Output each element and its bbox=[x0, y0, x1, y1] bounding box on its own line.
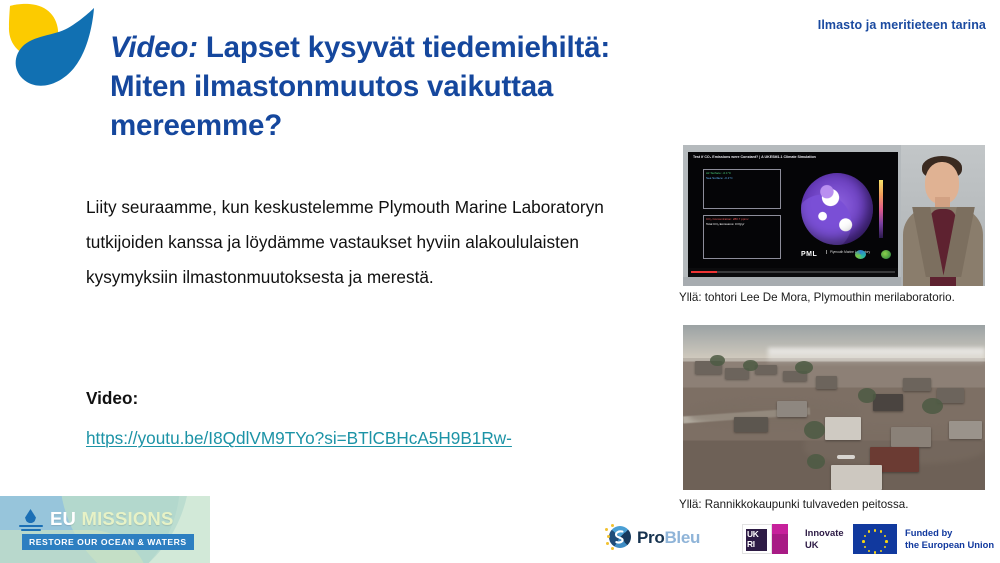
eu-missions-logo: EU MISSIONS RESTORE OUR OCEAN & WATERS bbox=[0, 496, 212, 563]
star-icon bbox=[607, 535, 610, 538]
probleu-logo: ProBleu bbox=[605, 524, 700, 551]
tree bbox=[858, 388, 876, 403]
star-icon bbox=[605, 528, 608, 531]
eu-missions-tagline: RESTORE OUR OCEAN & WATERS bbox=[22, 534, 194, 550]
tree bbox=[795, 361, 813, 374]
house bbox=[816, 376, 837, 389]
ukri-mark-label: UK RI bbox=[747, 530, 766, 550]
video-thumbnail-pml[interactable]: Test if CO₂ Emissions were Constant? | A… bbox=[683, 145, 985, 286]
eu-flag-icon bbox=[853, 524, 897, 554]
eu-funding-text: Funded by the European Union bbox=[905, 527, 994, 551]
partner-logo-row: ProBleu UK RI Innovate UK bbox=[605, 522, 995, 562]
probleu-word-bleu: Bleu bbox=[664, 528, 700, 547]
star-icon bbox=[611, 524, 614, 527]
ukri-innovate-uk-logo: UK RI Innovate UK bbox=[742, 524, 844, 554]
eu-missions-word-eu: EU bbox=[50, 508, 81, 529]
ukri-mark-line2: RI bbox=[747, 540, 766, 550]
video-label: Video: bbox=[86, 388, 138, 409]
pml-logo-text: PML bbox=[801, 251, 817, 258]
house bbox=[903, 378, 930, 391]
tree bbox=[922, 398, 943, 415]
probleu-swirl-icon bbox=[614, 530, 625, 544]
caption-top-image: Yllä: tohtori Lee De Mora, Plymouthin me… bbox=[679, 291, 955, 304]
chart-air-sea-temp bbox=[703, 169, 781, 209]
legend-co2-concentration: CO₂ Concentration: 280.7 ppmv bbox=[706, 217, 749, 221]
title-italic-prefix: Video: bbox=[110, 31, 198, 64]
ukesm-logo-icon bbox=[855, 250, 866, 259]
tree bbox=[804, 421, 825, 439]
eu-funding-line2: the European Union bbox=[905, 539, 994, 551]
colour-scale-bar bbox=[879, 180, 883, 238]
screen-stand bbox=[683, 277, 903, 286]
innovate-uk-line2: UK bbox=[805, 539, 844, 551]
eu-funding-logo: Funded by the European Union bbox=[853, 524, 994, 554]
house bbox=[734, 417, 767, 432]
house bbox=[831, 465, 882, 490]
flood-photo-graphic bbox=[683, 325, 985, 490]
house bbox=[825, 417, 861, 440]
body-paragraph: Liity seuraamme, kun keskustelemme Plymo… bbox=[86, 190, 656, 294]
presenter-person bbox=[901, 145, 985, 286]
story-brandmark-logo bbox=[2, 0, 102, 102]
caption-bottom-image: Yllä: Rannikkokaupunki tulvaveden peitos… bbox=[679, 498, 908, 511]
ukri-mark-icon: UK RI bbox=[742, 524, 772, 554]
eu-funding-line1: Funded by bbox=[905, 527, 994, 539]
video-link[interactable]: https://youtu.be/I8QdlVM9TYo?si=BTlCBHcA… bbox=[86, 428, 512, 449]
tree bbox=[710, 355, 725, 367]
flooded-coastal-town-photo bbox=[683, 325, 985, 490]
probleu-wordmark: ProBleu bbox=[637, 528, 700, 548]
legend-sea-surface: Sea Surface: -0.1°C bbox=[706, 176, 733, 180]
legend-air-surface: Air Surface: -0.1°C bbox=[706, 171, 731, 175]
probleu-mark-icon bbox=[605, 524, 632, 551]
page-title: Video: Lapset kysyvät tiedemiehiltä: Mit… bbox=[110, 28, 680, 146]
house bbox=[777, 401, 807, 418]
slide-canvas: Ilmasto ja meritieteen tarina Video: Lap… bbox=[0, 0, 1000, 563]
innovate-uk-line1: Innovate bbox=[805, 527, 844, 539]
video-scrubber[interactable] bbox=[691, 271, 895, 273]
eu-missions-word-missions: MISSIONS bbox=[81, 508, 173, 529]
screen-overlay-title: Test if CO₂ Emissions were Constant? | A… bbox=[693, 155, 816, 159]
house bbox=[949, 421, 982, 439]
house bbox=[873, 394, 903, 411]
partner-logo-icon bbox=[881, 250, 891, 259]
house bbox=[891, 427, 930, 447]
boat bbox=[837, 455, 855, 459]
legend-co2-emissions: Total CO₂ Emissions: 0 Pg/yr bbox=[706, 222, 745, 226]
probleu-word-pro: Pro bbox=[637, 528, 664, 547]
video-thumbnail-graphic: Test if CO₂ Emissions were Constant? | A… bbox=[683, 145, 985, 286]
star-icon bbox=[611, 547, 614, 550]
star-icon bbox=[606, 542, 609, 545]
house bbox=[755, 365, 776, 375]
innovate-uk-text: Innovate UK bbox=[805, 527, 844, 551]
earth-globe-visualisation bbox=[801, 173, 873, 245]
slide-eyebrow: Ilmasto ja meritieteen tarina bbox=[818, 18, 986, 32]
tree bbox=[807, 454, 825, 469]
eu-missions-wordmark: EU MISSIONS bbox=[50, 508, 174, 530]
